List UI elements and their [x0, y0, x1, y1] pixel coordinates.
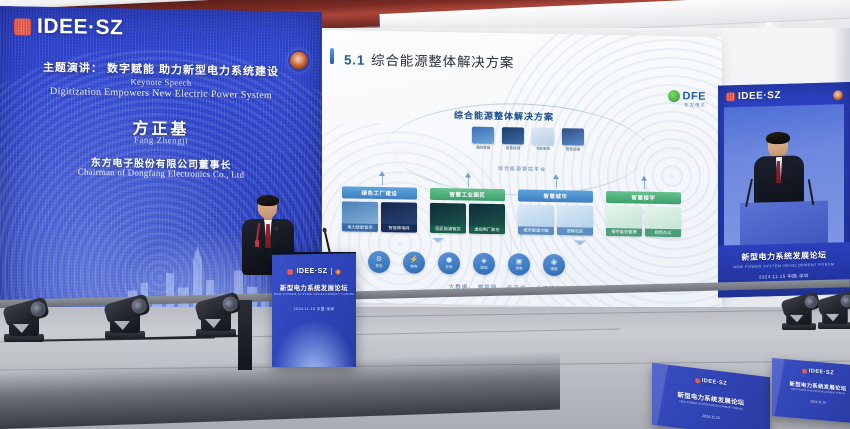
- podium: IDEE·SZ 新型电力系统发展论坛 NEW POWER SYSTEM DEVE…: [272, 252, 356, 367]
- substation-icon: ⬢: [446, 257, 452, 264]
- diagram-hub-label: 综合能源整体解决方案: [454, 108, 554, 123]
- diagram-chevron-down-icon: [574, 240, 586, 245]
- diagram-card-caption: 城市能源大脑: [518, 226, 554, 235]
- live-camera-feed: [724, 104, 844, 247]
- diagram-circle-label: 用电: [515, 266, 522, 271]
- light-lens-icon: [29, 299, 48, 318]
- forum-title-cn: 新型电力系统发展论坛: [272, 283, 356, 292]
- diagram-arrow-up-icon: [641, 176, 647, 181]
- diagram-card-caption: 低碳社区: [557, 227, 593, 236]
- diagram-chevron-down-icon: [432, 238, 444, 243]
- diagram-arrow-up-icon: [465, 172, 471, 177]
- diagram-card: 虚拟电厂聚合: [469, 204, 505, 235]
- diagram-circle-label: 储能: [550, 266, 557, 271]
- diagram-thumb-image: [472, 127, 494, 144]
- diagram-card: 低碳社区: [557, 205, 593, 236]
- diagram-circle-label: 输电: [410, 264, 417, 269]
- diagram-thumb-caption: 节能服务: [532, 147, 554, 152]
- diagram-circle-node: ◉ 储能: [543, 254, 565, 276]
- speaker-badge: [255, 240, 259, 247]
- light-lens-icon: [130, 296, 149, 315]
- diagram-circle-node: ⚙ 发电: [368, 251, 390, 273]
- idee-grid-icon: [14, 18, 31, 35]
- idee-grid-icon: [287, 269, 293, 275]
- diagram-group-header: 智慧楼宇: [606, 191, 681, 204]
- diagram-group: 智慧工业园区 园区能源管控 虚拟电厂聚合: [430, 188, 505, 234]
- diagram-group-cards: 电力智能管控 智能微电网: [342, 201, 417, 232]
- podium-skyline-glow: [272, 319, 356, 367]
- conference-emblem-icon: [335, 269, 341, 275]
- feed-speaker-hair: [766, 132, 790, 145]
- storage-icon: ◉: [551, 258, 557, 265]
- diagram-circle-row: ⚙ 发电 ⚡ 输电 ⬢ 变电 ◈ 配电 ▣ 用电: [368, 251, 565, 276]
- diagram-group-header: 智慧城市: [518, 189, 593, 202]
- diagram-circle-node: ⚡ 输电: [403, 251, 425, 273]
- light-lens-icon: [803, 294, 819, 310]
- diagram-group-cards: 城市能源大脑 低碳社区: [518, 204, 593, 235]
- conference-emblem-icon: [833, 90, 843, 100]
- diagram-card: 智能微电网: [381, 202, 417, 233]
- diagram-thumb-item: 智慧运维: [562, 128, 584, 145]
- diagram-thumb-item: 智慧能源: [502, 127, 524, 144]
- table-tent-card: IDEE·SZ 新型电力系统发展论坛 NEW POWER SYSTEM DEVE…: [772, 358, 850, 424]
- diagram-arrow-stem: [556, 178, 557, 188]
- diagram-circle-node: ⬢ 变电: [438, 252, 460, 274]
- diagram-group: 绿色工厂建设 电力智能管控 智能微电网: [342, 186, 417, 232]
- stage-light: [818, 297, 850, 329]
- idee-grid-icon: [726, 92, 735, 101]
- light-lens-icon: [221, 294, 240, 313]
- floor-seam: [300, 309, 850, 318]
- forum-title-en: NEW POWER SYSTEM DEVELOPMENT FORUM: [272, 292, 356, 296]
- stage-light: [105, 297, 151, 339]
- podium-top-surface: [272, 252, 356, 255]
- diagram-group-header: 智慧工业园区: [430, 188, 505, 201]
- diagram-thumb-row: 源网荷储 智慧能源 节能服务 智慧运维: [472, 127, 584, 146]
- diagram-card-caption: 虚拟电厂聚合: [469, 226, 505, 235]
- diagram-thumb-image: [562, 128, 584, 145]
- diagram-card: 城市能源大脑: [518, 204, 554, 235]
- right-led-screen: IDEE·SZ 新型电力系统发展论坛 NEW POWER SYSTEM DEVE…: [718, 82, 850, 298]
- diagram-group: 智慧楼宇 楼宇能效管理 绿色办公: [606, 191, 681, 237]
- podium-logo: IDEE·SZ: [272, 268, 356, 275]
- diagram-arrow-up-icon: [553, 174, 559, 179]
- diagram-arrow-stem: [382, 175, 383, 185]
- generation-icon: ⚙: [376, 255, 382, 262]
- diagram-thumb-item: 节能服务: [532, 128, 554, 145]
- diagram-thumb-image: [502, 127, 524, 144]
- diagram-circle-label: 发电: [375, 263, 382, 268]
- idee-grid-icon: [802, 368, 807, 373]
- forum-title-en: NEW POWER SYSTEM DEVELOPMENT FORUM: [718, 262, 850, 270]
- diagram-circle-label: 配电: [480, 265, 487, 270]
- diagram-card: 电力智能管控: [342, 201, 378, 232]
- stage-light: [782, 298, 816, 330]
- diagram-card-caption: 电力智能管控: [342, 223, 378, 232]
- diagram-group: 智慧城市 城市能源大脑 低碳社区: [518, 189, 593, 235]
- conference-stage-photo: IDEE·SZ 主题演讲： 数字赋能 助力新型电力系统建设 Keynote Sp…: [0, 0, 850, 429]
- diagram-group-cards: 楼宇能效管理 绿色办公: [606, 206, 681, 237]
- stage-light: [196, 295, 242, 337]
- consumption-icon: ▣: [516, 258, 523, 265]
- logo-divider: [331, 268, 332, 275]
- diagram-arrow-stem: [468, 177, 469, 187]
- diagram-card-caption: 楼宇能效管理: [606, 228, 642, 237]
- diagram-circle-node: ◈ 配电: [473, 253, 495, 275]
- idee-sz-logo: IDEE·SZ: [726, 90, 781, 103]
- diagram-card: 绿色办公: [645, 207, 681, 238]
- stage-light: [4, 300, 50, 342]
- speaker-hair: [257, 195, 279, 206]
- projection-screen: 5.1综合能源整体解决方案 DFE 东方电子 综合能源整体解决方案 源网荷储 智…: [322, 30, 722, 309]
- idee-sz-logo: IDEE·SZ: [14, 14, 123, 40]
- diagram-thumb-item: 源网荷储: [472, 127, 494, 144]
- idee-sz-logo-text: IDEE·SZ: [296, 268, 327, 275]
- forum-date: 2024.11.15 中国·深圳: [272, 307, 356, 312]
- diagram-group-cards: 园区能源管控 虚拟电厂聚合: [430, 203, 505, 234]
- diagram-thumb-caption: 智慧能源: [502, 146, 524, 151]
- diagram-thumb-image: [532, 128, 554, 145]
- diagram-thumb-caption: 智慧运维: [562, 147, 584, 152]
- diagram-thumb-caption: 源网荷储: [472, 146, 494, 151]
- diagram-arrow-up-icon: [379, 171, 385, 176]
- diagram-card-caption: 绿色办公: [645, 229, 681, 238]
- forum-title-cn: 新型电力系统发展论坛: [718, 249, 850, 264]
- feed-podium: [740, 201, 828, 248]
- diagram-card-caption: 园区能源管控: [430, 225, 466, 234]
- idee-grid-icon: [695, 378, 700, 384]
- distribution-icon: ◈: [481, 257, 486, 264]
- diagram-circle-node: ▣ 用电: [508, 253, 530, 275]
- diagram-card: 楼宇能效管理: [606, 206, 642, 237]
- light-lens-icon: [839, 293, 850, 309]
- slide-diagram: 综合能源整体解决方案 源网荷储 智慧能源 节能服务 智慧运维: [322, 30, 722, 309]
- diagram-card-caption: 智能微电网: [381, 224, 417, 233]
- idee-sz-logo-text: IDEE·SZ: [37, 15, 123, 41]
- diagram-group-header: 绿色工厂建设: [342, 186, 417, 199]
- idee-sz-logo-text: IDEE·SZ: [738, 90, 781, 102]
- diagram-arrow-stem: [644, 180, 645, 190]
- transmission-icon: ⚡: [410, 256, 419, 263]
- diagram-circle-label: 变电: [445, 265, 452, 270]
- diagram-card: 园区能源管控: [430, 203, 466, 234]
